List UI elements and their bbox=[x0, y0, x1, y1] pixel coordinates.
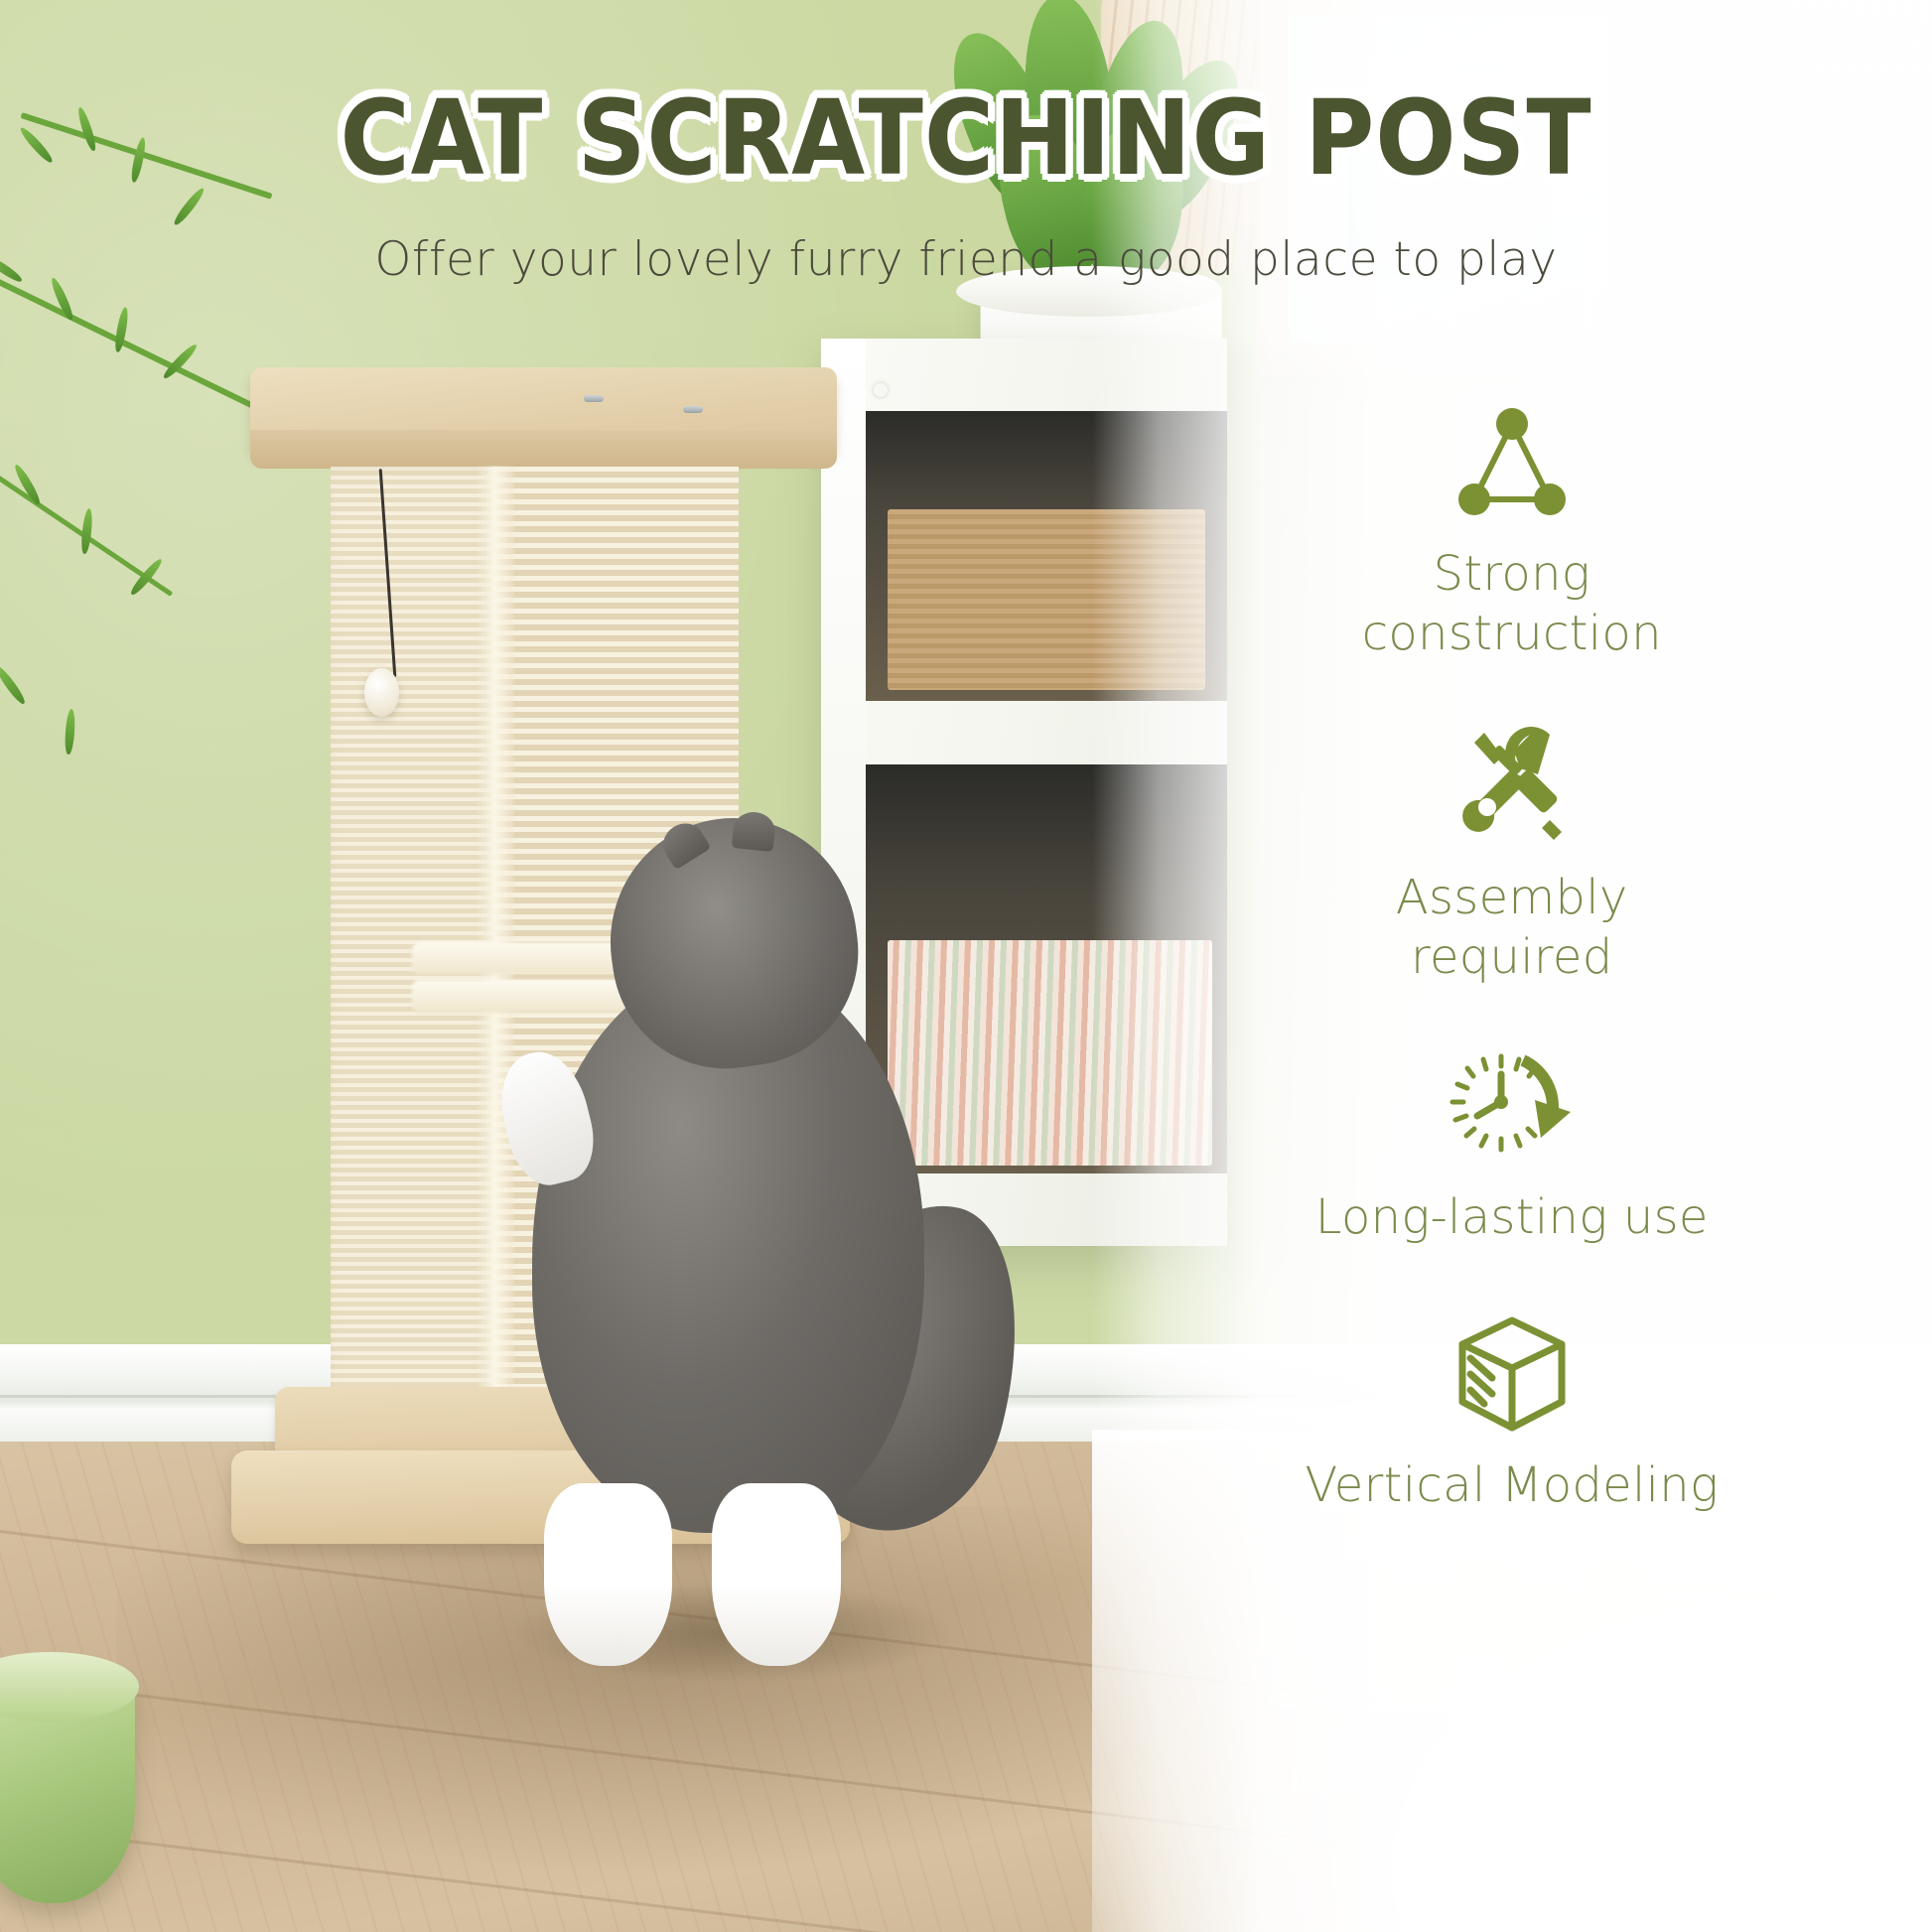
feature-list: Strong construction bbox=[1092, 397, 1932, 1515]
feature-vertical-modeling: Vertical Modeling bbox=[1092, 1309, 1932, 1515]
shelf-screw-cap bbox=[874, 383, 888, 397]
post-screw bbox=[683, 406, 703, 413]
plant-leaf bbox=[80, 507, 94, 554]
header: CAT SCRATCHING POST Offer your lovely fu… bbox=[0, 0, 1932, 287]
feature-label-line1: Vertical Modeling bbox=[1305, 1457, 1719, 1513]
plant-leaf bbox=[65, 709, 76, 756]
post-top-edge bbox=[250, 430, 838, 470]
cat-ear-left bbox=[656, 816, 712, 870]
post-screw bbox=[584, 395, 604, 402]
triangle-nodes-icon bbox=[1452, 397, 1572, 528]
clock-arrow-icon bbox=[1449, 1040, 1575, 1172]
feature-strong-construction: Strong construction bbox=[1092, 397, 1932, 663]
feature-label-line1: Long-lasting use bbox=[1315, 1189, 1709, 1245]
cat-hind-leg-right bbox=[712, 1483, 841, 1666]
plant-leaf bbox=[128, 557, 164, 598]
feature-label-line1: Assembly bbox=[1396, 870, 1628, 925]
wrench-screwdriver-icon bbox=[1450, 721, 1574, 852]
cat bbox=[454, 802, 1014, 1633]
plant-branch bbox=[0, 273, 256, 409]
cat-ear-right bbox=[732, 810, 777, 852]
feature-label-line2: construction bbox=[1362, 606, 1662, 661]
feature-label: Long-lasting use bbox=[1315, 1187, 1709, 1247]
product-marketing-image: CAT SCRATCHING POST Offer your lovely fu… bbox=[0, 0, 1932, 1932]
feature-label: Assembly required bbox=[1396, 868, 1628, 987]
page-subtitle: Offer your lovely furry friend a good pl… bbox=[0, 232, 1932, 287]
feature-label-line2: required bbox=[1411, 929, 1613, 985]
page-title: CAT SCRATCHING POST bbox=[77, 77, 1855, 199]
feature-long-lasting-use: Long-lasting use bbox=[1092, 1040, 1932, 1247]
feature-label: Vertical Modeling bbox=[1305, 1455, 1719, 1515]
feature-label: Strong construction bbox=[1362, 544, 1662, 663]
dangling-toy-ball bbox=[364, 668, 399, 717]
cube-box-icon bbox=[1452, 1309, 1572, 1440]
plant-leaf bbox=[0, 664, 28, 707]
feature-assembly-required: Assembly required bbox=[1092, 721, 1932, 987]
feature-label-line1: Strong bbox=[1434, 546, 1590, 602]
cat-hind-leg-left bbox=[544, 1483, 673, 1666]
